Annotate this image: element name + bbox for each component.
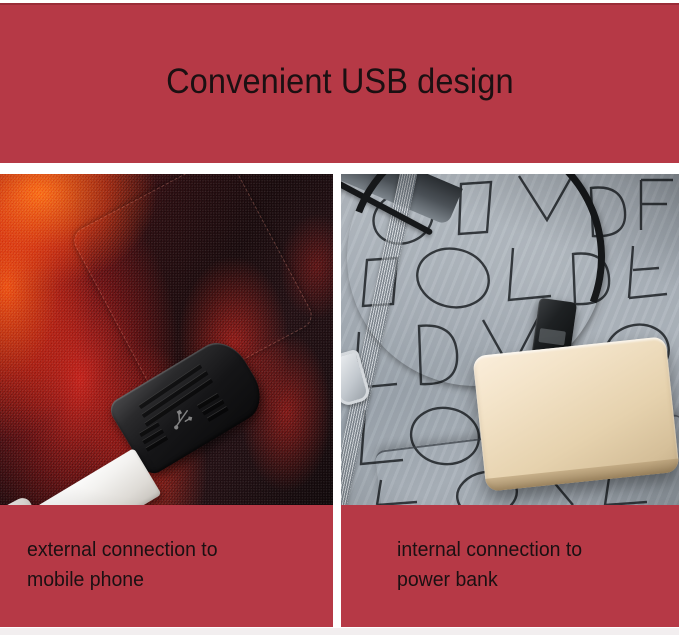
photo-vignette — [0, 174, 333, 505]
panel-grid: external connection to mobile phone — [0, 174, 679, 635]
caption-internal-line2: power bank — [397, 565, 644, 595]
panel-divider — [333, 170, 341, 635]
bottom-edge-strip — [0, 628, 679, 635]
photo-external-usb-port — [0, 174, 333, 505]
panel-internal-power-bank: internal connection to power bank — [341, 174, 679, 635]
caption-external-line1: external connection to — [27, 535, 297, 565]
page-title: Convenient USB design — [166, 64, 514, 103]
caption-external-line2: mobile phone — [27, 565, 297, 595]
caption-internal: internal connection to power bank — [341, 505, 679, 627]
header-banner: Convenient USB design — [0, 3, 679, 163]
product-feature-poster: Convenient USB design — [0, 0, 679, 635]
caption-external: external connection to mobile phone — [0, 505, 333, 627]
photo-vignette — [341, 174, 679, 505]
photo-internal-power-bank — [341, 174, 679, 505]
caption-internal-line1: internal connection to — [397, 535, 644, 565]
panel-external-usb-port: external connection to mobile phone — [0, 174, 333, 635]
